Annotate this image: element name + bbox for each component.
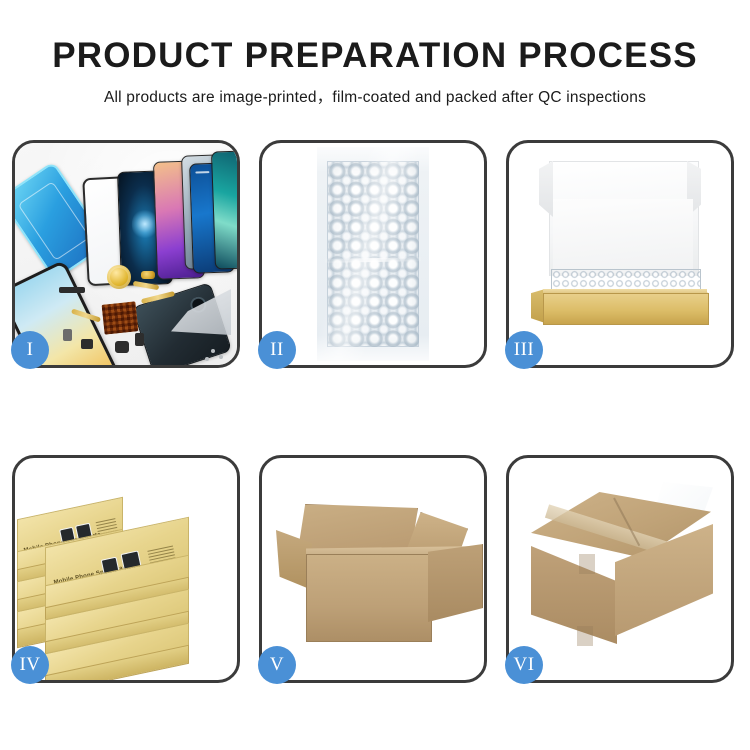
carton-side-face — [428, 544, 483, 622]
page-title: PRODUCT PREPARATION PROCESS — [0, 36, 750, 76]
step-badge-ii: II — [258, 331, 296, 369]
step-badge-iii: III — [505, 331, 543, 369]
carton-flap-back — [298, 504, 418, 554]
step-image-i — [15, 143, 237, 365]
step-panel-i: I — [12, 140, 240, 368]
retail-box — [45, 638, 187, 672]
step-image-v — [262, 458, 484, 680]
page-subtitle: All products are image-printed，film-coat… — [0, 85, 750, 107]
copper-grid-part — [102, 301, 139, 334]
step-badge-i: I — [11, 331, 49, 369]
bubble-wrap-strip — [317, 147, 429, 361]
foam-sheet — [553, 199, 693, 273]
camera-module-part — [81, 339, 93, 349]
step-badge-v: V — [258, 646, 296, 684]
step-image-vi — [509, 458, 731, 680]
carton-left-face — [531, 546, 617, 644]
step-badge-iv: IV — [11, 646, 49, 684]
screw-part — [205, 357, 209, 361]
step-panel-iv: Mobile Phone Spare Parts — [12, 455, 240, 683]
battery-connector-part — [135, 333, 144, 346]
carton-flap-tab — [579, 554, 595, 574]
screw-part — [219, 355, 223, 359]
product-preparation-infographic: PRODUCT PREPARATION PROCESS All products… — [0, 0, 750, 750]
step-panel-iii: III — [506, 140, 734, 368]
box-front-panel — [543, 293, 709, 325]
step-badge-vi: VI — [505, 646, 543, 684]
retail-box-stack: Mobile Phone Spare Parts — [15, 458, 237, 680]
steps-grid: I II — [12, 140, 738, 683]
small-chip-part — [63, 329, 72, 341]
step-panel-v: V — [259, 455, 487, 683]
vibrator-part — [115, 341, 129, 353]
connector-part — [59, 287, 85, 293]
carton-flap-tab — [577, 626, 593, 646]
plastic-sheen — [317, 147, 429, 361]
gold-contact-part — [141, 271, 155, 279]
carton-front-face — [306, 554, 432, 642]
step-panel-vi: VI — [506, 455, 734, 683]
step-panel-ii: II — [259, 140, 487, 368]
box-lid-flap-left — [539, 161, 553, 217]
phone-teal-wave — [211, 150, 237, 269]
step-image-iii — [509, 143, 731, 365]
header: PRODUCT PREPARATION PROCESS All products… — [0, 36, 750, 107]
speaker-coil-part — [107, 265, 131, 289]
step-image-iv: Mobile Phone Spare Parts — [15, 458, 237, 680]
step-image-ii — [262, 143, 484, 365]
screw-part — [211, 349, 215, 353]
